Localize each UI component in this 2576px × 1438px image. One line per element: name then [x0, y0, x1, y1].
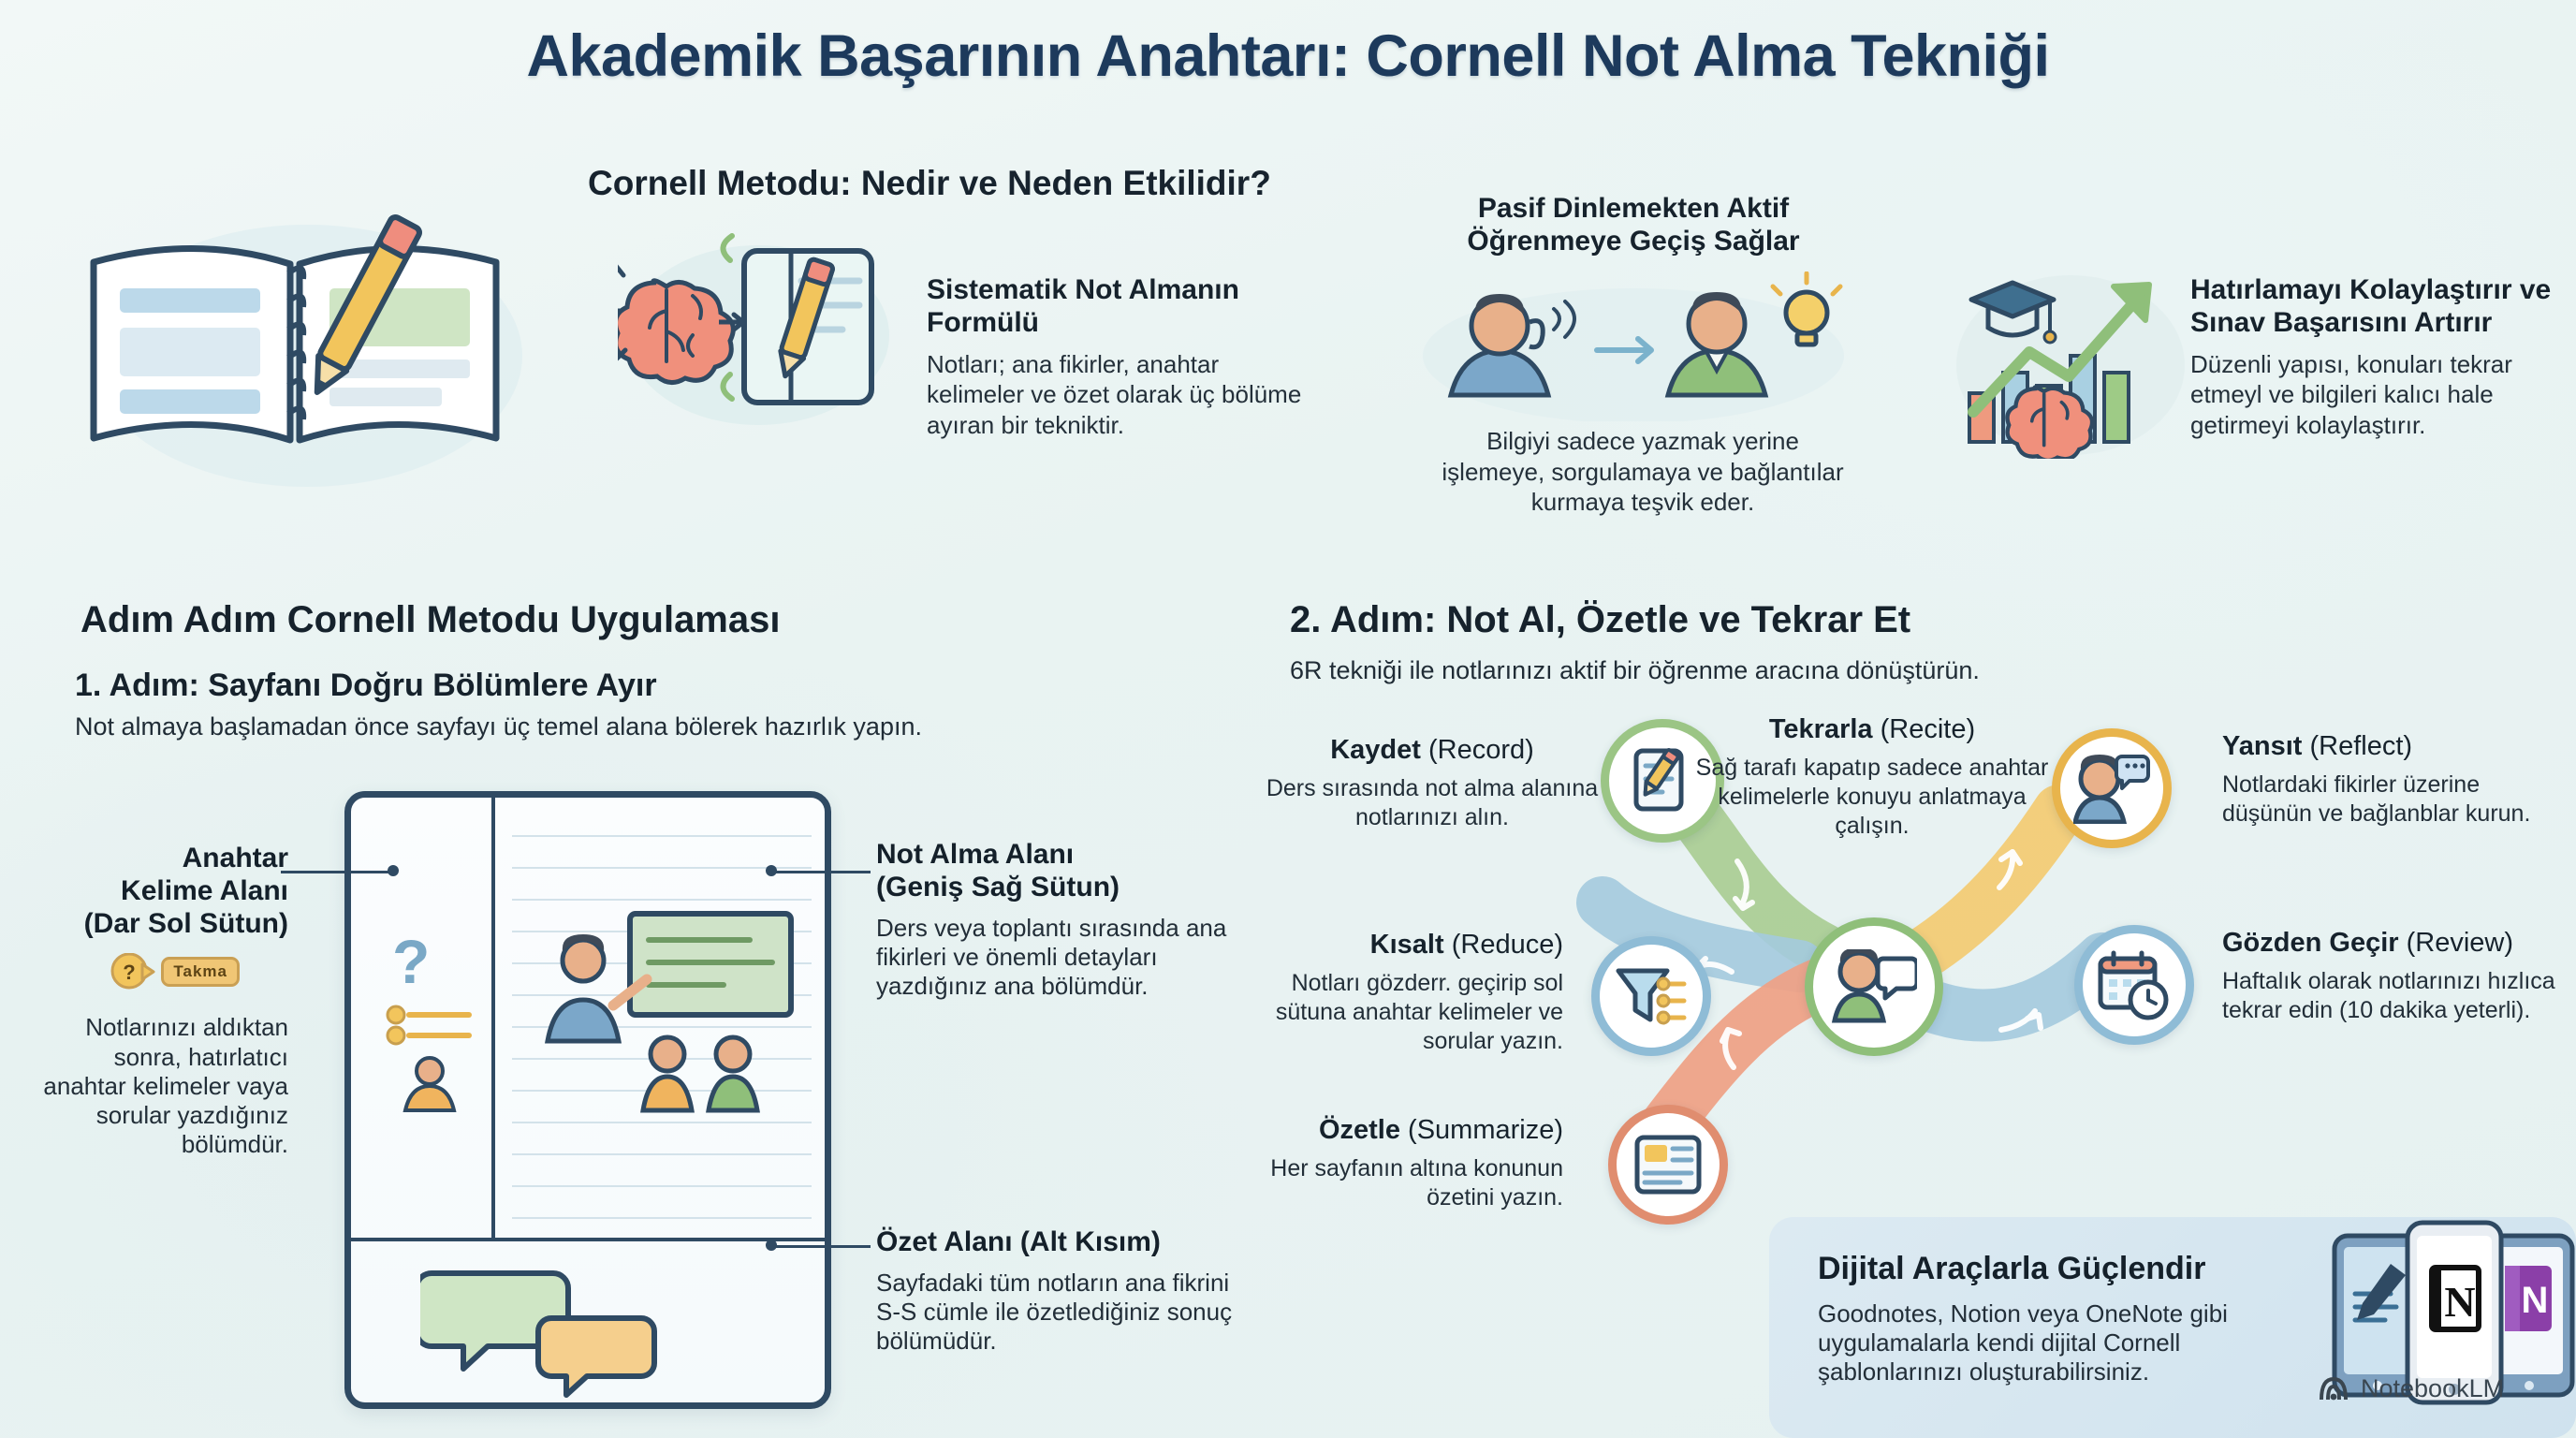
flow-label-recite-tr: Tekrarla	[1769, 714, 1873, 744]
annotation-summary-area: Özet Alanı (Alt Kısım) Sayfadaki tüm not…	[876, 1226, 1251, 1356]
flow-label-review-title: Gözden Geçir (Review)	[2222, 927, 2576, 960]
digital-tools-body: Goodnotes, Notion veya OneNote gibi uygu…	[1818, 1299, 2323, 1387]
flow-label-reduce-body: Notları gözderr. geçirip sol sütuna anah…	[1217, 969, 1563, 1056]
summary-area-illustration	[420, 1264, 673, 1404]
flow-circle-reflect	[2052, 728, 2172, 848]
flow-label-reflect-en: (Reflect)	[2310, 731, 2413, 761]
flow-label-recite-title: Tekrarla (Recite)	[1685, 713, 2059, 746]
svg-text:?: ?	[124, 961, 136, 984]
card-two-title: Pasif Dinlemekten Aktif Öğrenmeye Geçiş …	[1423, 192, 1844, 258]
digital-tools-panel: Dijital Araçlarla Güçlendir Goodnotes, N…	[1769, 1217, 2576, 1438]
flow-label-record-tr: Kaydet	[1330, 735, 1421, 765]
card-three: Hatırlamayı Kolaylaştırır ve Sınav Başar…	[2190, 273, 2565, 440]
section-one-heading: Cornell Metodu: Nedir ve Neden Etkilidir…	[588, 164, 1271, 203]
takma-badge-label: Takma	[161, 957, 240, 987]
flow-label-record-en: (Record)	[1428, 735, 1534, 765]
flow-label-review-tr: Gözden Geçir	[2222, 928, 2399, 958]
connector-right-bottom	[768, 1245, 871, 1248]
card-one: Sistematik Not Almanın Formülü Notları; …	[927, 273, 1310, 440]
flow-label-summarize-title: Özetle (Summarize)	[1245, 1114, 1563, 1147]
cornell-page-diagram: ?	[344, 791, 831, 1409]
card-one-body: Notları; ana fikirler, anahtar kelimeler…	[927, 349, 1310, 441]
svg-text:?: ?	[392, 929, 430, 996]
infographic-page: Akademik Başarının Anahtarı: Cornell Not…	[0, 0, 2576, 1438]
flow-label-summarize: Özetle (Summarize) Her sayfanın altına k…	[1245, 1114, 1563, 1212]
flow-label-record: Kaydet (Record) Ders sırasında not alma …	[1264, 734, 1601, 832]
card-growth-icon	[1956, 262, 2190, 459]
annotation-note-area: Not Alma Alanı (Geniş Sağ Sütun) Ders ve…	[876, 839, 1251, 1001]
card-listening-icon	[1413, 271, 1853, 421]
calendar-clock-icon	[2097, 949, 2172, 1020]
connector-left-dot	[388, 865, 399, 876]
flow-label-reduce-title: Kısalt (Reduce)	[1217, 929, 1563, 961]
flow-label-reflect-tr: Yansıt	[2222, 731, 2302, 761]
annotation-note-area-title: Not Alma Alanı (Geniş Sağ Sütun)	[876, 839, 1251, 904]
open-book-svg	[56, 159, 543, 496]
flow-circle-review	[2074, 925, 2194, 1045]
flow-label-record-body: Ders sırasında not alma alanına notların…	[1264, 774, 1601, 832]
graduation-growth-brain-icon	[1956, 262, 2190, 459]
card-three-body: Düzenli yapısı, konuları tekrar etmeyl v…	[2190, 349, 2565, 441]
flow-label-recite-en: (Recite)	[1881, 714, 1976, 744]
digital-tools-title: Dijital Araçlarla Güçlendir	[1818, 1251, 2205, 1287]
flow-label-summarize-body: Her sayfanın altına konunun özetini yazı…	[1245, 1154, 1563, 1212]
connector-left	[281, 871, 391, 873]
document-summary-icon	[1633, 1134, 1703, 1196]
annotation-summary-area-title: Özet Alanı (Alt Kısım)	[876, 1226, 1251, 1259]
flow-circle-summarize	[1608, 1105, 1728, 1225]
cue-column-icons: ?	[383, 929, 488, 1116]
annotation-cue-column-body: Notlarınızı aldıktan sonra, hatırlatıcı …	[37, 1013, 288, 1159]
card-three-title: Hatırlamayı Kolaylaştırır ve Sınav Başar…	[2190, 273, 2565, 340]
note-area-illustration	[525, 910, 806, 1125]
flow-label-reflect: Yansıt (Reflect) Notlardaki fikirler üze…	[2222, 730, 2569, 829]
card-brain-notebook-icon	[618, 225, 889, 431]
flow-label-summarize-tr: Özetle	[1319, 1115, 1400, 1145]
flow-label-recite-body: Sağ tarafı kapatıp sadece anahtar kelime…	[1685, 754, 2059, 841]
flow-label-reduce: Kısalt (Reduce) Notları gözderr. geçirip…	[1217, 929, 1563, 1056]
connector-right-bottom-dot	[766, 1240, 777, 1251]
funnel-filter-icon	[1615, 963, 1688, 1029]
cue-column-divider	[491, 798, 495, 1238]
question-bubble-icon: ?	[110, 953, 155, 990]
flow-label-reduce-en: (Reduce)	[1452, 930, 1563, 960]
svg-text:N: N	[2522, 1280, 2549, 1321]
step-one-subtitle: Not almaya başlamadan önce sayfayı üç te…	[75, 712, 922, 742]
flow-label-record-title: Kaydet (Record)	[1264, 734, 1601, 767]
step-one-title: 1. Adım: Sayfanı Doğru Bölümlere Ayır	[75, 667, 657, 705]
summary-divider	[351, 1238, 825, 1241]
flow-label-summarize-en: (Summarize)	[1408, 1115, 1563, 1145]
flow-circle-recite	[1805, 917, 1943, 1056]
open-book-illustration	[56, 159, 543, 496]
connector-right-top-dot	[766, 865, 777, 876]
flow-label-reflect-title: Yansıt (Reflect)	[2222, 730, 2569, 763]
card-one-title: Sistematik Not Almanın Formülü	[927, 273, 1310, 340]
section-two-heading: Adım Adım Cornell Metodu Uygulaması	[80, 599, 780, 641]
person-speaking-icon	[1831, 949, 1917, 1024]
notebooklm-brand: NotebookLM	[2318, 1374, 2504, 1403]
flow-label-review-en: (Review)	[2407, 928, 2513, 958]
section-three-subtitle: 6R tekniği ile notlarınızı aktif bir öğr…	[1290, 655, 1980, 686]
notebooklm-logo-icon	[2318, 1375, 2349, 1403]
annotation-summary-area-body: Sayfadaki tüm notların ana fikrini S-S c…	[876, 1269, 1251, 1357]
svg-text:N: N	[2444, 1278, 2475, 1326]
thinking-person-icon	[2073, 753, 2150, 824]
listening-to-idea-icon	[1413, 271, 1853, 421]
annotation-cue-column: Anahtar Kelime Alanı (Dar Sol Sütun) ? T…	[37, 843, 288, 1159]
flow-label-review: Gözden Geçir (Review) Haftalık olarak no…	[2222, 927, 2576, 1025]
flow-label-reduce-tr: Kısalt	[1370, 930, 1444, 960]
annotation-cue-column-title: Anahtar Kelime Alanı (Dar Sol Sütun)	[37, 843, 288, 940]
connector-right-top	[768, 871, 871, 873]
page-title: Akademik Başarının Anahtarı: Cornell Not…	[526, 22, 2049, 90]
flow-circle-reduce	[1591, 936, 1711, 1056]
section-three-title: 2. Adım: Not Al, Özetle ve Tekrar Et	[1290, 599, 1910, 641]
brain-notebook-icon	[618, 225, 889, 431]
card-two-body: Bilgiyi sadece yazmak yerine işlemeye, s…	[1432, 426, 1853, 518]
flow-label-review-body: Haftalık olarak notlarınızı hızlıca tekr…	[2222, 967, 2576, 1025]
annotation-note-area-body: Ders veya toplantı sırasında ana fikirle…	[876, 914, 1251, 1002]
flow-label-recite: Tekrarla (Recite) Sağ tarafı kapatıp sad…	[1685, 713, 2059, 841]
notebooklm-brand-label: NotebookLM	[2361, 1374, 2504, 1403]
takma-badge: ? Takma	[110, 953, 240, 990]
flow-label-reflect-body: Notlardaki fikirler üzerine düşünün ve b…	[2222, 770, 2569, 829]
